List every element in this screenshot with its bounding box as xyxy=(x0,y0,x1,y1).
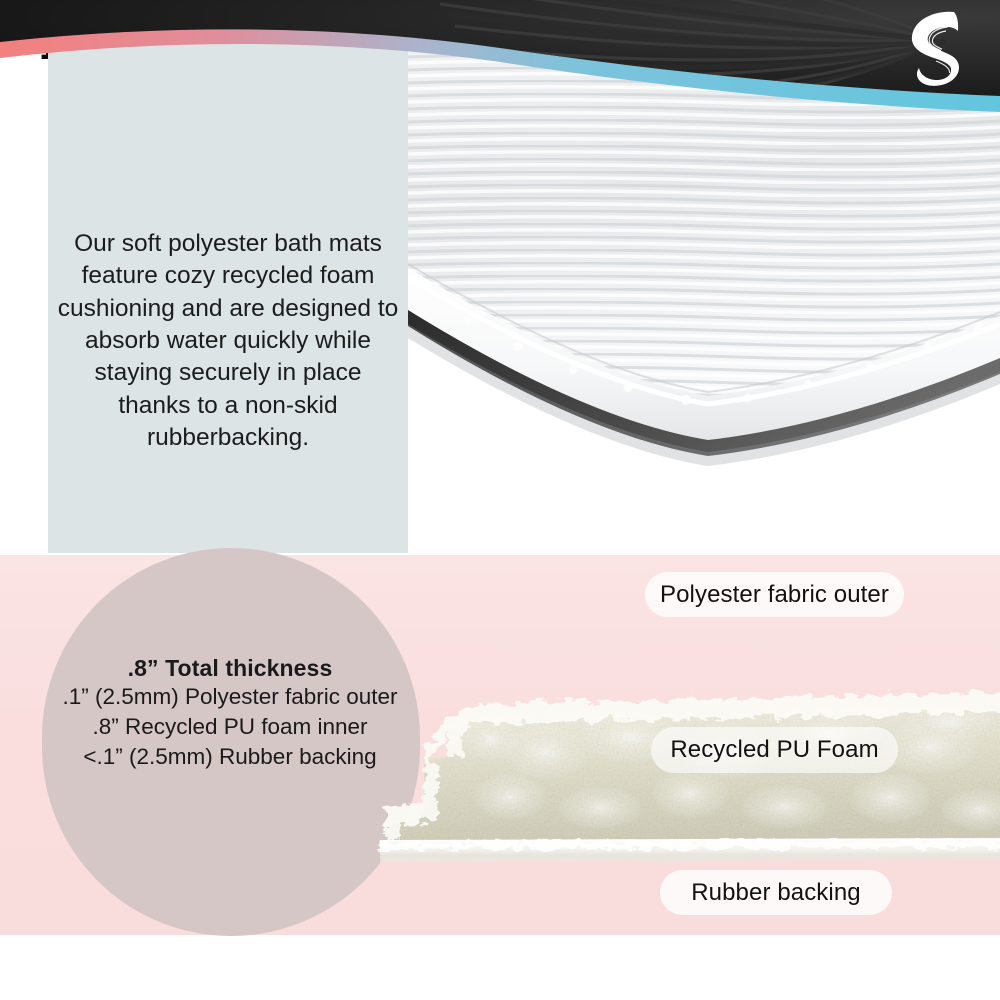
spec-line-outer: .1” (2.5mm) Polyester fabric outer xyxy=(40,682,420,712)
thickness-spec-block: .8” Total thickness .1” (2.5mm) Polyeste… xyxy=(40,655,420,772)
s-flame-logo xyxy=(888,4,984,88)
callout-label: Rubber backing xyxy=(691,879,861,907)
callout-rubber-backing: Rubber backing xyxy=(660,870,892,915)
intro-paragraph: Our soft polyester bath mats feature coz… xyxy=(48,228,408,454)
callout-polyester-fabric-outer: Polyester fabric outer xyxy=(645,572,904,617)
callout-recycled-pu-foam: Recycled PU Foam xyxy=(651,727,898,773)
callout-label: Polyester fabric outer xyxy=(660,581,889,609)
header-swoosh-banner xyxy=(0,0,1000,130)
spec-line-foam: .8” Recycled PU foam inner xyxy=(40,712,420,742)
spec-total-thickness: .8” Total thickness xyxy=(40,655,420,682)
callout-label: Recycled PU Foam xyxy=(670,736,878,764)
spec-line-backing: <.1” (2.5mm) Rubber backing xyxy=(40,742,420,772)
infographic-canvas: material Bath Mat Construction Our soft … xyxy=(0,0,1000,1000)
